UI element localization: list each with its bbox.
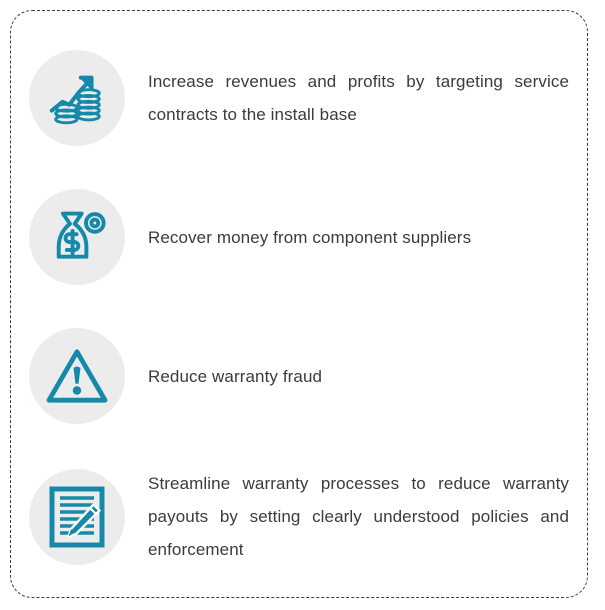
document-pencil-icon (49, 486, 105, 548)
benefit-text: Increase revenues and profits by targeti… (148, 65, 571, 131)
warning-triangle-icon (46, 347, 108, 405)
benefit-icon-badge (29, 189, 125, 285)
money-bag-coin-icon (47, 207, 107, 267)
benefit-row: Reduce warranty fraud (29, 328, 571, 424)
benefit-row: Increase revenues and profits by targeti… (29, 50, 571, 146)
warranty-benefits-panel: Increase revenues and profits by targeti… (10, 10, 588, 598)
growth-chart-coins-icon (46, 67, 108, 129)
benefit-row: Streamline warranty processes to reduce … (29, 467, 571, 566)
benefit-icon-badge (29, 469, 125, 565)
benefit-text: Recover money from component suppliers (148, 221, 571, 254)
benefit-row: Recover money from component suppliers (29, 189, 571, 285)
screenshot-canvas: Increase revenues and profits by targeti… (0, 0, 605, 610)
benefit-icon-badge (29, 50, 125, 146)
benefit-text: Streamline warranty processes to reduce … (148, 467, 571, 566)
benefit-text: Reduce warranty fraud (148, 360, 571, 393)
benefit-icon-badge (29, 328, 125, 424)
